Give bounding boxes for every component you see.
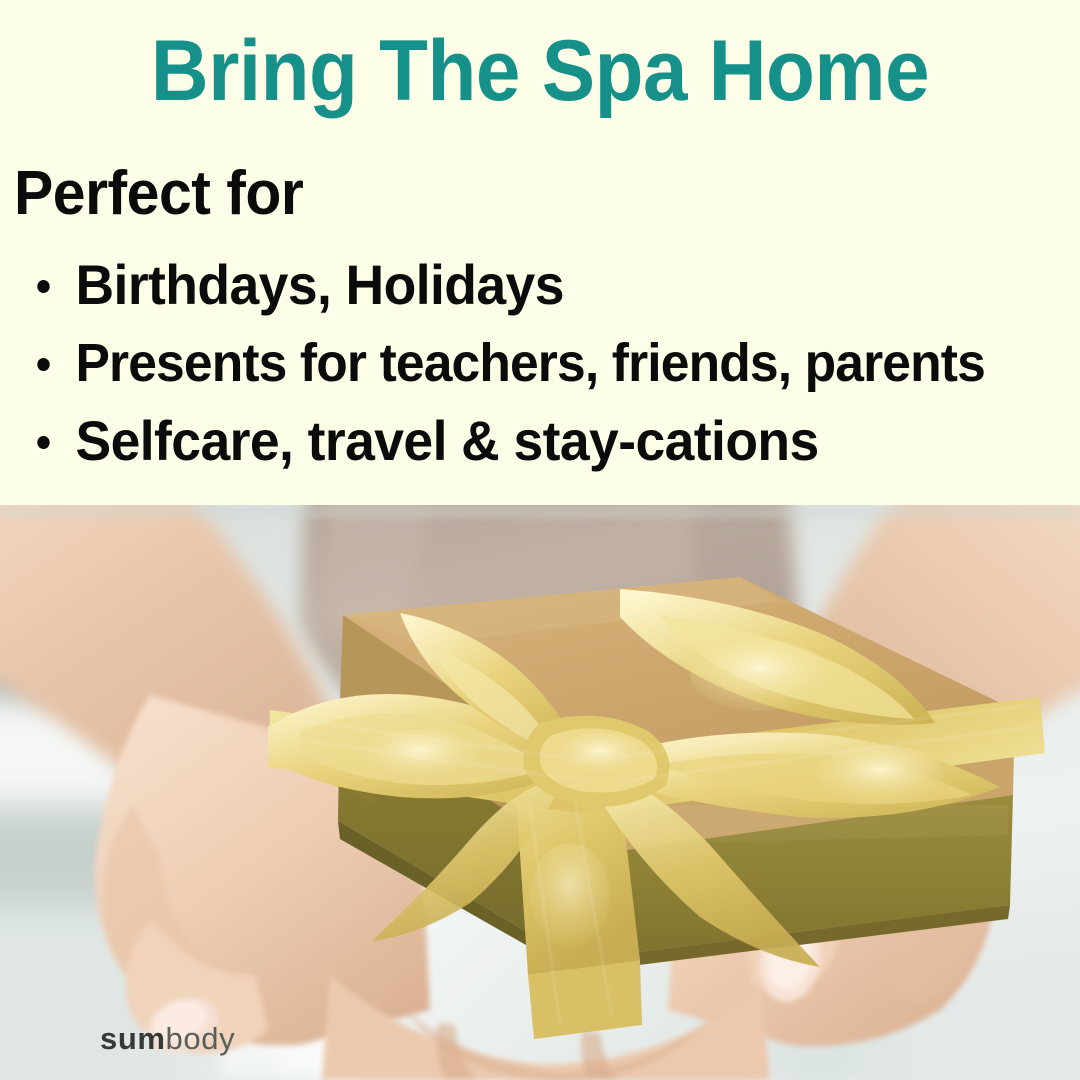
poster: sumbody Bring The Spa Home Perfect for B…: [0, 0, 1080, 1080]
bullet-dot-icon: [37, 436, 49, 449]
list-item: Selfcare, travel & stay-cations: [22, 402, 1025, 480]
list-item-label: Birthdays, Holidays: [75, 253, 563, 316]
text-panel: Bring The Spa Home Perfect for Birthdays…: [0, 0, 1080, 505]
brand-logo: sumbody: [100, 1023, 235, 1054]
section-heading: Perfect for: [14, 163, 303, 225]
list-item-label: Presents for teachers, friends, parents: [75, 333, 984, 393]
hero-photo: [0, 505, 1080, 1080]
logo-body: body: [166, 1021, 236, 1056]
gift-photo-illustration: [0, 505, 1080, 1080]
benefits-list: Birthdays, Holidays Presents for teacher…: [22, 246, 1072, 480]
logo-sum: sum: [100, 1021, 166, 1056]
bullet-dot-icon: [37, 358, 49, 371]
bullet-dot-icon: [37, 280, 49, 293]
list-item-label: Selfcare, travel & stay-cations: [75, 409, 818, 472]
page-title: Bring The Spa Home: [38, 28, 1042, 114]
list-item: Birthdays, Holidays: [22, 246, 1025, 324]
list-item: Presents for teachers, friends, parents: [22, 324, 1025, 402]
